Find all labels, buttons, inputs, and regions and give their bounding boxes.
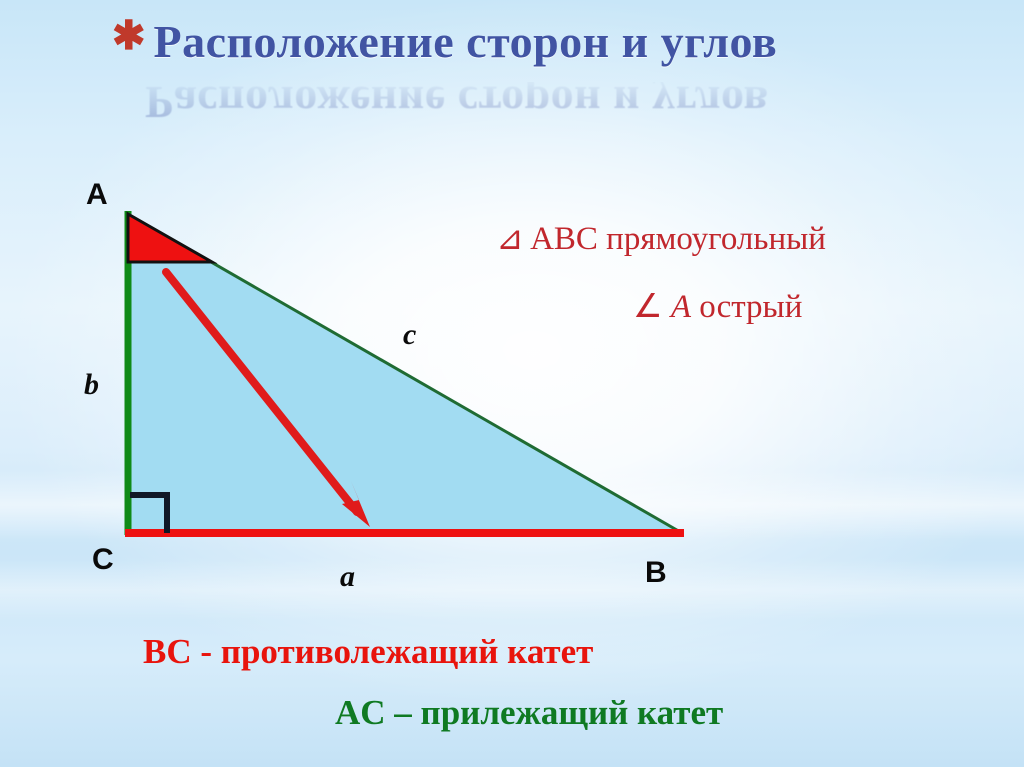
note-triangle-is-right: ⊿ ABC прямоугольный [496, 220, 826, 258]
note-angle-suffix: острый [691, 289, 802, 325]
side-label-b: b [84, 370, 99, 400]
vertex-label-b: B [645, 558, 667, 588]
note-angle-letter: A [671, 289, 691, 325]
side-label-a: a [340, 562, 355, 592]
note-angle-prefix: ∠ [633, 289, 671, 325]
conclusion-adjacent-leg: AC – прилежащий катет [335, 693, 723, 733]
side-label-c: c [403, 320, 416, 350]
acute-angle-marker [128, 214, 212, 262]
note-angle-a-is-acute: ∠ A острый [633, 288, 802, 326]
vertex-label-c: C [92, 545, 114, 575]
conclusion-opposite-leg: BC - противолежащий катет [143, 632, 593, 672]
vertex-label-a: A [86, 180, 108, 210]
slide-canvas: ✱ Расположение сторон и углов Расположен… [0, 0, 1024, 767]
